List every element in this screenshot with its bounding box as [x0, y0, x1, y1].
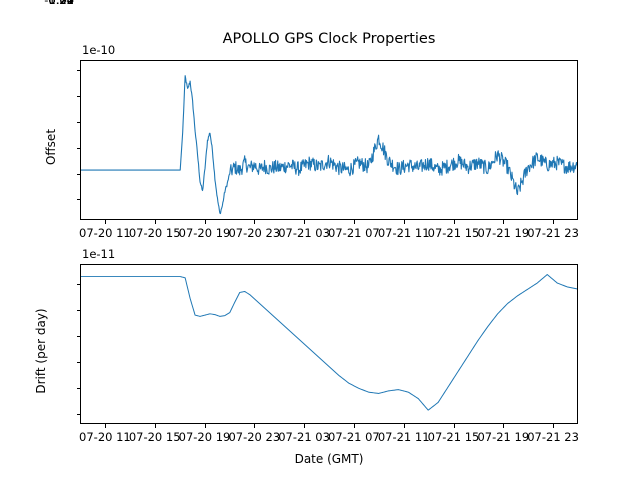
offset-y-tick-mark: [77, 199, 81, 200]
offset-x-tick-mark: [254, 220, 255, 224]
drift-y-tick-mark: [77, 284, 81, 285]
drift-x-tick-label: 07-21 23: [527, 430, 579, 444]
drift-y-axis-label: Drift (per day): [34, 291, 48, 411]
offset-x-tick-label: 07-21 07: [328, 226, 380, 240]
offset-x-tick-mark: [404, 220, 405, 224]
drift-x-tick-label: 07-21 07: [328, 430, 380, 444]
drift-y-tick-mark: [77, 336, 81, 337]
drift-line-series: [81, 265, 577, 423]
offset-x-tick-mark: [553, 220, 554, 224]
drift-x-tick-mark: [454, 424, 455, 428]
offset-x-tick-mark: [454, 220, 455, 224]
drift-y-exponent-label: 1e-11: [82, 247, 115, 261]
drift-x-tick-mark: [304, 424, 305, 428]
matplotlib-figure: APOLLO GPS Clock Properties 1e-10 Offset…: [0, 0, 640, 480]
drift-y-tick-label: -5: [63, 0, 74, 7]
drift-x-tick-mark: [155, 424, 156, 428]
drift-x-tick-mark: [354, 424, 355, 428]
drift-x-tick-label: 07-20 23: [228, 430, 280, 444]
drift-x-tick-mark: [205, 424, 206, 428]
offset-x-tick-mark: [105, 220, 106, 224]
drift-y-tick-mark: [77, 362, 81, 363]
offset-y-tick-mark: [77, 96, 81, 97]
offset-x-tick-label: 07-20 11: [79, 226, 131, 240]
x-axis-label: Date (GMT): [80, 452, 578, 466]
drift-y-tick-mark: [77, 388, 81, 389]
offset-y-tick-mark: [77, 174, 81, 175]
drift-x-tick-mark: [553, 424, 554, 428]
drift-x-tick-mark: [105, 424, 106, 428]
offset-x-tick-label: 07-21 03: [278, 226, 330, 240]
offset-x-tick-mark: [155, 220, 156, 224]
offset-line-series: [81, 61, 577, 219]
drift-y-tick-mark: [77, 310, 81, 311]
offset-y-exponent-label: 1e-10: [82, 43, 115, 57]
offset-x-tick-label: 07-21 11: [378, 226, 430, 240]
chart-title: APOLLO GPS Clock Properties: [80, 31, 578, 47]
offset-y-tick-mark: [77, 148, 81, 149]
offset-plot-area: [80, 60, 578, 220]
offset-y-tick-mark: [77, 122, 81, 123]
drift-x-tick-mark: [503, 424, 504, 428]
offset-x-tick-mark: [354, 220, 355, 224]
offset-x-tick-label: 07-20 15: [129, 226, 181, 240]
offset-x-tick-mark: [503, 220, 504, 224]
offset-x-tick-label: 07-21 23: [527, 226, 579, 240]
offset-x-tick-label: 07-21 19: [477, 226, 529, 240]
drift-x-tick-label: 07-20 19: [179, 430, 231, 444]
offset-y-tick-mark: [77, 70, 81, 71]
drift-x-tick-label: 07-21 03: [278, 430, 330, 444]
offset-x-tick-label: 07-21 15: [428, 226, 480, 240]
drift-plot-area: [80, 264, 578, 424]
offset-x-tick-label: 07-20 19: [179, 226, 231, 240]
offset-x-tick-mark: [205, 220, 206, 224]
drift-x-tick-label: 07-21 19: [477, 430, 529, 444]
offset-x-tick-label: 07-20 23: [228, 226, 280, 240]
offset-x-tick-mark: [304, 220, 305, 224]
drift-x-tick-mark: [404, 424, 405, 428]
drift-x-tick-label: 07-21 11: [378, 430, 430, 444]
offset-y-axis-label: Offset: [44, 87, 58, 207]
drift-x-tick-label: 07-20 11: [79, 430, 131, 444]
drift-x-tick-label: 07-21 15: [428, 430, 480, 444]
drift-y-tick-mark: [77, 414, 81, 415]
drift-x-tick-mark: [254, 424, 255, 428]
drift-x-tick-label: 07-20 15: [129, 430, 181, 444]
